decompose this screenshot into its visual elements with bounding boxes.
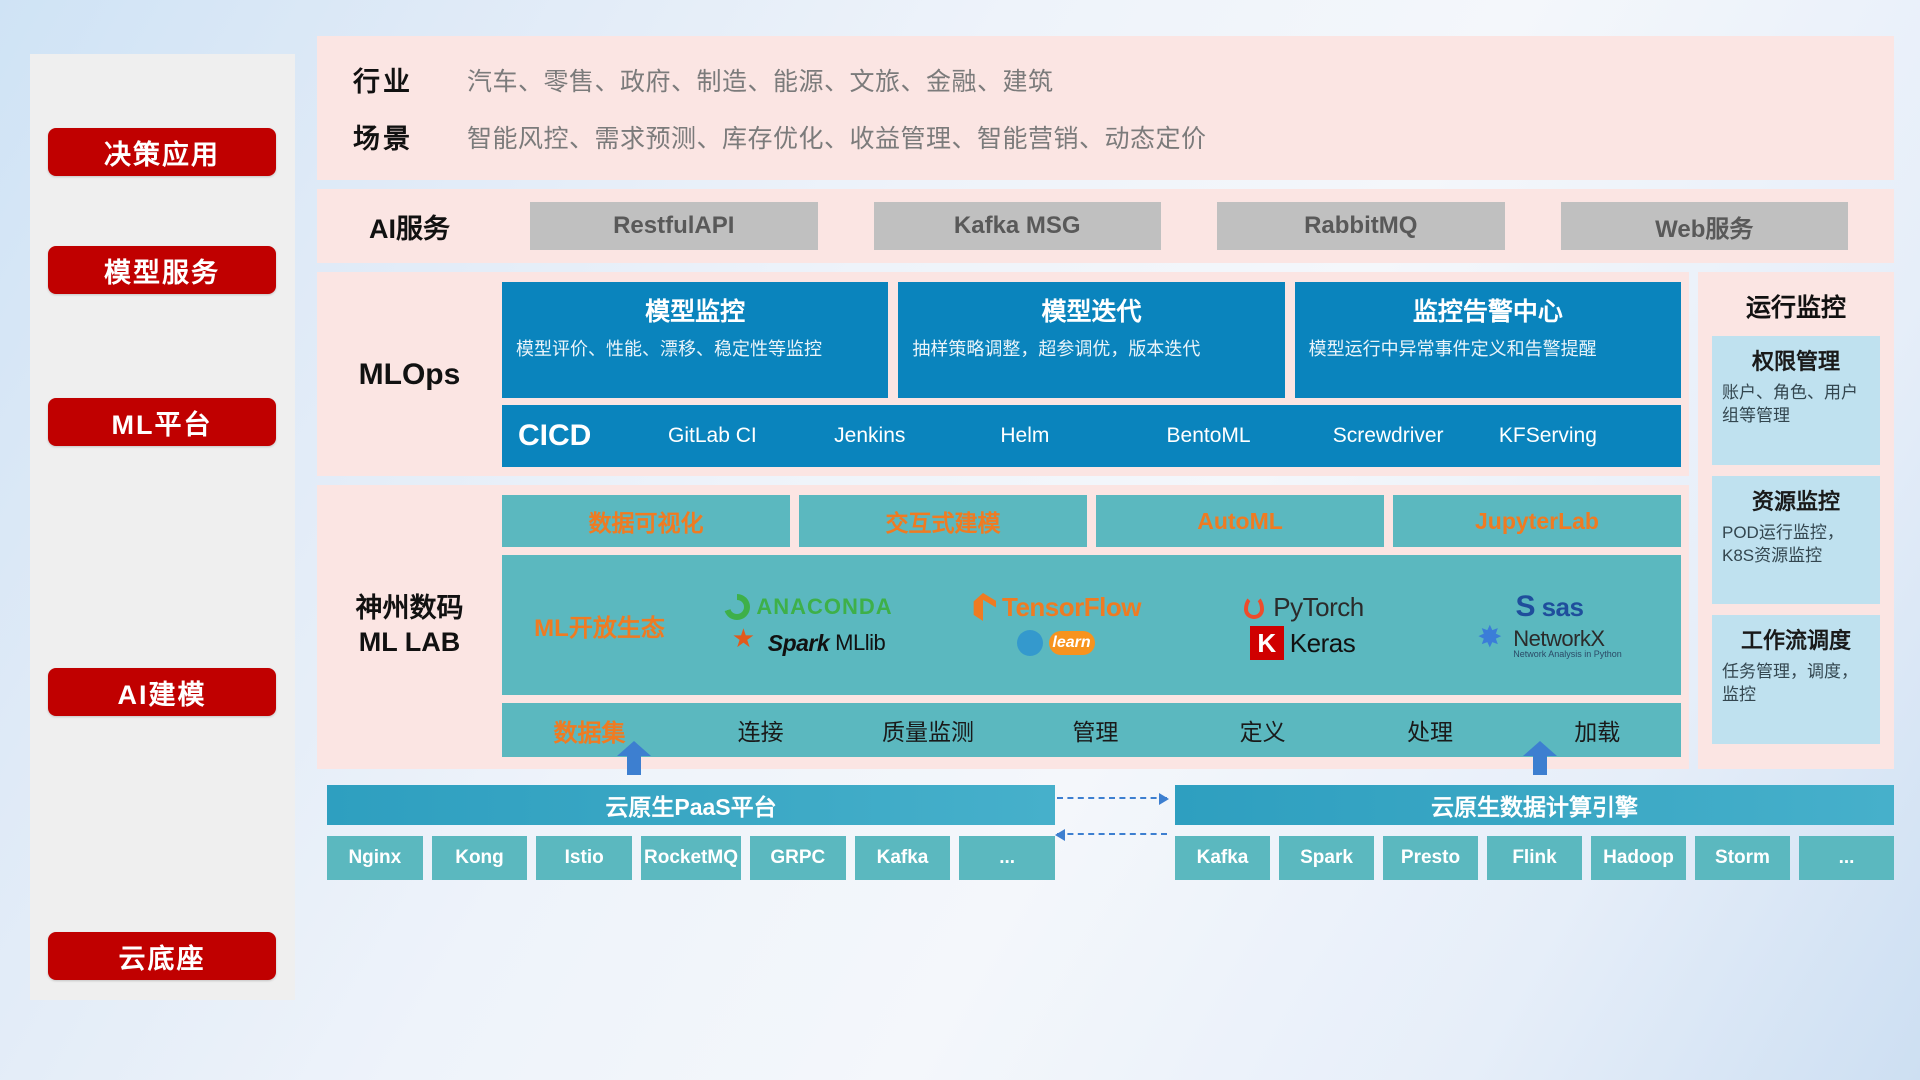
cicd-item-bentoml[interactable]: BentoML xyxy=(1167,425,1333,447)
rail-item-decision-apps[interactable]: 决策应用 xyxy=(48,128,276,176)
paas-title: 云原生PaaS平台 xyxy=(327,785,1055,825)
lab-tab-automl[interactable]: AutoML xyxy=(1096,495,1384,547)
ml-lab-label: 神州数码 ML LAB xyxy=(317,495,502,757)
anaconda-logo: ANACONDA xyxy=(724,594,892,620)
keras-logo: K Keras xyxy=(1250,626,1355,660)
card-title: 工作流调度 xyxy=(1722,623,1870,655)
dataset-item-quality-monitor[interactable]: 质量监测 xyxy=(844,713,1011,747)
engine-chip-hadoop[interactable]: Hadoop xyxy=(1591,836,1686,880)
card-desc: 模型运行中异常事件定义和告警提醒 xyxy=(1309,337,1667,361)
anaconda-label: ANACONDA xyxy=(756,594,892,620)
paas-chip-grpc[interactable]: GRPC xyxy=(750,836,846,880)
tensorflow-label: TensorFlow xyxy=(1002,592,1141,623)
monitor-card-workflow[interactable]: 工作流调度 任务管理，调度，监控 xyxy=(1712,615,1880,744)
rail-item-model-service[interactable]: 模型服务 xyxy=(48,246,276,294)
keras-icon: K xyxy=(1250,626,1284,660)
scikit-learn-badge: learn xyxy=(1049,631,1095,655)
rail-item-label: 决策应用 xyxy=(104,133,220,172)
sas-label: sas xyxy=(1542,592,1584,623)
mllib-label: MLlib xyxy=(835,630,885,656)
ai-services-band: AI服务 RestfulAPI Kafka MSG RabbitMQ Web服务 xyxy=(317,189,1894,263)
rail-item-cloud-base[interactable]: 云底座 xyxy=(48,932,276,980)
ai-services-label: AI服务 xyxy=(317,207,502,246)
lab-tab-data-visualization[interactable]: 数据可视化 xyxy=(502,495,790,547)
arrow-right-dashed-icon xyxy=(1057,797,1167,799)
card-title: 监控告警中心 xyxy=(1309,292,1667,328)
mlops-card-model-monitoring[interactable]: 模型监控 模型评价、性能、漂移、稳定性等监控 xyxy=(502,282,888,398)
paas-chip-nginx[interactable]: Nginx xyxy=(327,836,423,880)
ml-ecosystem-label: ML开放生态 xyxy=(512,608,687,643)
engine-chip-spark[interactable]: Spark xyxy=(1279,836,1374,880)
card-desc: POD运行监控，K8S资源监控 xyxy=(1722,522,1870,568)
pytorch-icon xyxy=(1241,593,1267,621)
sas-logo: S sas xyxy=(1516,590,1584,624)
scikit-learn-icon xyxy=(1017,630,1043,656)
decision-apps-band: 行业 汽车、零售、政府、制造、能源、文旅、金融、建筑 场景 智能风控、需求预测、… xyxy=(317,36,1894,180)
mlops-card-alert-center[interactable]: 监控告警中心 模型运行中异常事件定义和告警提醒 xyxy=(1295,282,1681,398)
cicd-item-gitlab-ci[interactable]: GitLab CI xyxy=(668,425,834,447)
spark-label: Spark xyxy=(768,630,829,657)
service-button-rabbitmq[interactable]: RabbitMQ xyxy=(1217,202,1505,250)
cloud-base-section: 云原生PaaS平台 Nginx Kong Istio RocketMQ GRPC… xyxy=(317,785,1894,880)
scenario-values: 智能风控、需求预测、库存优化、收益管理、智能营销、动态定价 xyxy=(467,119,1207,155)
keras-label: Keras xyxy=(1290,628,1355,659)
cicd-item-helm[interactable]: Helm xyxy=(1000,425,1166,447)
service-button-web-service[interactable]: Web服务 xyxy=(1561,202,1849,250)
mlops-band: MLOps 模型监控 模型评价、性能、漂移、稳定性等监控 模型迭代 抽样策略调整… xyxy=(317,272,1689,476)
engine-chip-kafka[interactable]: Kafka xyxy=(1175,836,1270,880)
monitor-card-permission[interactable]: 权限管理 账户、角色、用户组等管理 xyxy=(1712,336,1880,465)
rail-item-label: AI建模 xyxy=(118,673,207,712)
runtime-monitoring-title: 运行监控 xyxy=(1712,288,1880,324)
service-button-kafka-msg[interactable]: Kafka MSG xyxy=(874,202,1162,250)
layer-rail: 决策应用 模型服务 ML平台 AI建模 云底座 xyxy=(30,54,295,1000)
lab-tab-interactive-modeling[interactable]: 交互式建模 xyxy=(799,495,1087,547)
networkx-logo: NetworkX Network Analysis in Python xyxy=(1477,628,1622,659)
scikit-learn-logo: learn xyxy=(1017,630,1095,656)
paas-chip-rocketmq[interactable]: RocketMQ xyxy=(641,836,741,880)
card-title: 模型监控 xyxy=(516,292,874,328)
spark-mllib-logo: Spark MLlib xyxy=(732,629,886,657)
cicd-item-jenkins[interactable]: Jenkins xyxy=(834,425,1000,447)
pytorch-logo: PyTorch xyxy=(1241,592,1363,623)
tensorflow-logo: TensorFlow xyxy=(970,592,1141,623)
lab-tab-jupyterlab[interactable]: JupyterLab xyxy=(1393,495,1681,547)
dataset-item-define[interactable]: 定义 xyxy=(1179,713,1346,747)
cicd-item-screwdriver[interactable]: Screwdriver xyxy=(1333,425,1499,447)
cicd-item-kfserving[interactable]: KFServing xyxy=(1499,425,1665,447)
tensorflow-icon xyxy=(970,593,996,621)
ml-lab-label-line2: ML LAB xyxy=(356,626,464,660)
ml-ecosystem-row: ML开放生态 ANACONDA TensorFlow xyxy=(502,555,1681,695)
rail-item-label: 模型服务 xyxy=(104,251,220,290)
card-desc: 模型评价、性能、漂移、稳定性等监控 xyxy=(516,337,874,361)
mlops-card-model-iteration[interactable]: 模型迭代 抽样策略调整，超参调优，版本迭代 xyxy=(898,282,1284,398)
paas-chip-kong[interactable]: Kong xyxy=(432,836,528,880)
sas-icon: S xyxy=(1516,590,1536,624)
networkx-label: NetworkX xyxy=(1513,628,1622,650)
dataset-item-process[interactable]: 处理 xyxy=(1346,713,1513,747)
arrow-left-dashed-icon xyxy=(1057,833,1167,835)
ml-lab-band: 神州数码 ML LAB 数据可视化 交互式建模 AutoML JupyterLa… xyxy=(317,485,1689,769)
dataset-item-connect[interactable]: 连接 xyxy=(677,713,844,747)
scenario-row: 场景 智能风控、需求预测、库存优化、收益管理、智能营销、动态定价 xyxy=(317,117,1894,156)
card-desc: 抽样策略调整，超参调优，版本迭代 xyxy=(912,337,1270,361)
engine-title: 云原生数据计算引擎 xyxy=(1175,785,1894,825)
industry-label: 行业 xyxy=(317,60,467,99)
anaconda-icon xyxy=(724,594,750,620)
engine-chip-flink[interactable]: Flink xyxy=(1487,836,1582,880)
rail-item-label: 云底座 xyxy=(119,937,206,976)
engine-chip-more[interactable]: ... xyxy=(1799,836,1894,880)
service-button-restful-api[interactable]: RestfulAPI xyxy=(530,202,818,250)
cicd-label: CICD xyxy=(518,419,668,453)
monitor-card-resource[interactable]: 资源监控 POD运行监控，K8S资源监控 xyxy=(1712,476,1880,605)
mlops-label: MLOps xyxy=(317,282,502,467)
engine-chip-storm[interactable]: Storm xyxy=(1695,836,1790,880)
runtime-monitoring-panel: 运行监控 权限管理 账户、角色、用户组等管理 资源监控 POD运行监控，K8S资… xyxy=(1698,272,1894,769)
rail-item-ml-platform[interactable]: ML平台 xyxy=(48,398,276,446)
industry-values: 汽车、零售、政府、制造、能源、文旅、金融、建筑 xyxy=(467,62,1054,98)
rail-item-ai-modeling[interactable]: AI建模 xyxy=(48,668,276,716)
pytorch-label: PyTorch xyxy=(1273,592,1363,623)
card-desc: 任务管理，调度，监控 xyxy=(1722,661,1870,707)
paas-group: 云原生PaaS平台 Nginx Kong Istio RocketMQ GRPC… xyxy=(327,785,1055,880)
ml-lab-label-line1: 神州数码 xyxy=(356,592,464,626)
dataset-row: 数据集 连接 质量监测 管理 定义 处理 加载 xyxy=(502,703,1681,757)
cicd-row: CICD GitLab CI Jenkins Helm BentoML Scre… xyxy=(502,405,1681,467)
card-title: 资源监控 xyxy=(1722,484,1870,516)
arrow-up-icon xyxy=(617,741,651,775)
paas-chip-istio[interactable]: Istio xyxy=(536,836,632,880)
rail-item-label: ML平台 xyxy=(112,403,213,442)
industry-row: 行业 汽车、零售、政府、制造、能源、文旅、金融、建筑 xyxy=(317,60,1894,99)
engine-chip-presto[interactable]: Presto xyxy=(1383,836,1478,880)
card-desc: 账户、角色、用户组等管理 xyxy=(1722,382,1870,428)
compute-engine-group: 云原生数据计算引擎 Kafka Spark Presto Flink Hadoo… xyxy=(1175,785,1894,880)
paas-chip-more[interactable]: ... xyxy=(959,836,1055,880)
card-title: 权限管理 xyxy=(1722,344,1870,376)
networkx-icon xyxy=(1477,628,1507,658)
spark-icon xyxy=(732,629,762,657)
scenario-label: 场景 xyxy=(317,117,467,156)
networkx-sublabel: Network Analysis in Python xyxy=(1513,650,1622,659)
arrow-up-icon xyxy=(1523,741,1557,775)
card-title: 模型迭代 xyxy=(912,292,1270,328)
dataset-item-manage[interactable]: 管理 xyxy=(1012,713,1179,747)
paas-chip-kafka[interactable]: Kafka xyxy=(855,836,951,880)
